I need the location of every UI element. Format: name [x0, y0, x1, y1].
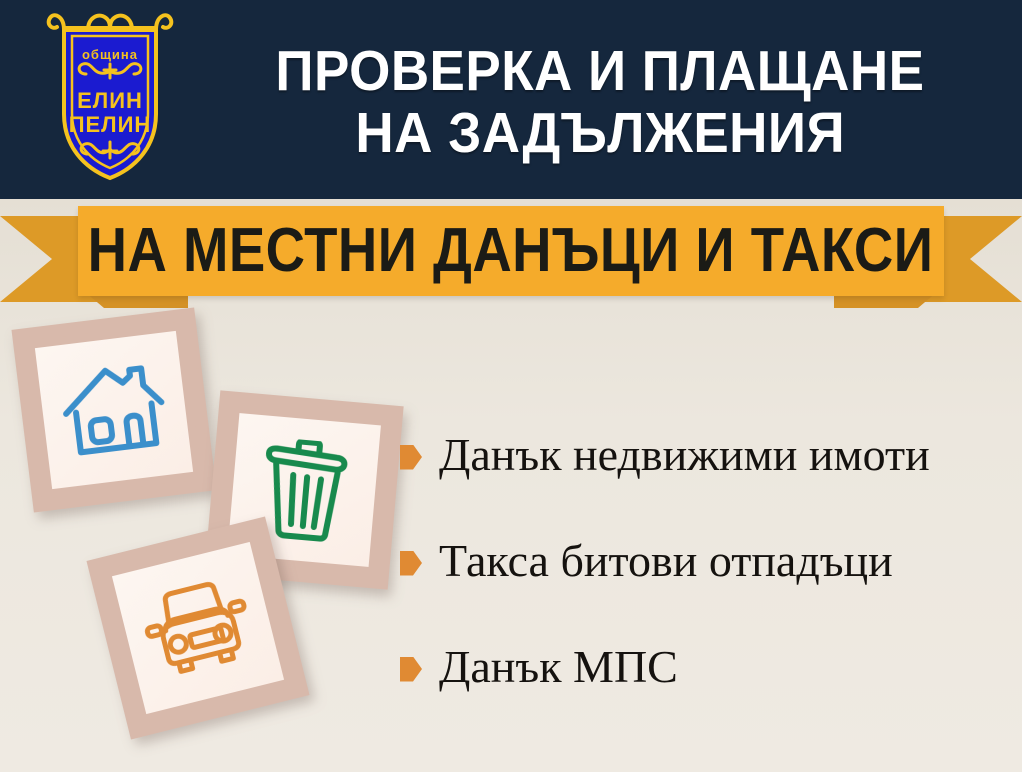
subtitle-ribbon: НА МЕСТНИ ДАНЪЦИ И ТАКСИ	[0, 198, 1022, 316]
arrow-bullet-icon	[400, 445, 422, 470]
arrow-bullet-icon	[400, 657, 422, 682]
list-item-label: Данък недвижими имоти	[439, 429, 930, 481]
ribbon-label: НА МЕСТНИ ДАНЪЦИ И ТАКСИ	[88, 220, 934, 282]
header-bar: община ЕЛИН ПЕЛИН ПРОВ	[0, 0, 1022, 199]
list-item: Данък МПС	[400, 636, 1020, 698]
poster-title: ПРОВЕРКА И ПЛАЩАНЕ НА ЗАДЪЛЖЕНИЯ	[185, 14, 1015, 189]
list-item: Данък недвижими имоти	[400, 424, 1020, 486]
ribbon-band: НА МЕСТНИ ДАНЪЦИ И ТАКСИ	[78, 206, 944, 296]
tax-type-list: Данък недвижими имоти Такса битови отпад…	[400, 424, 1020, 742]
list-item: Такса битови отпадъци	[400, 530, 1020, 592]
title-line-1: ПРОВЕРКА И ПЛАЩАНЕ	[275, 40, 924, 102]
house-icon	[57, 356, 172, 464]
car-icon	[135, 571, 262, 684]
arrow-bullet-icon	[400, 551, 422, 576]
trash-bin-icon	[254, 436, 354, 544]
list-item-label: Данък МПС	[439, 641, 678, 693]
poster-root: община ЕЛИН ПЕЛИН ПРОВ	[0, 0, 1022, 772]
svg-text:община: община	[82, 47, 138, 62]
svg-text:ЕЛИН: ЕЛИН	[77, 88, 143, 113]
list-item-label: Такса битови отпадъци	[439, 535, 893, 587]
title-line-2: НА ЗАДЪЛЖЕНИЯ	[355, 102, 845, 164]
stamp-card-house	[11, 307, 216, 512]
svg-text:ПЕЛИН: ПЕЛИН	[69, 112, 152, 137]
coat-of-arms-icon: община ЕЛИН ПЕЛИН	[44, 6, 176, 186]
stamp-paper	[35, 331, 193, 489]
